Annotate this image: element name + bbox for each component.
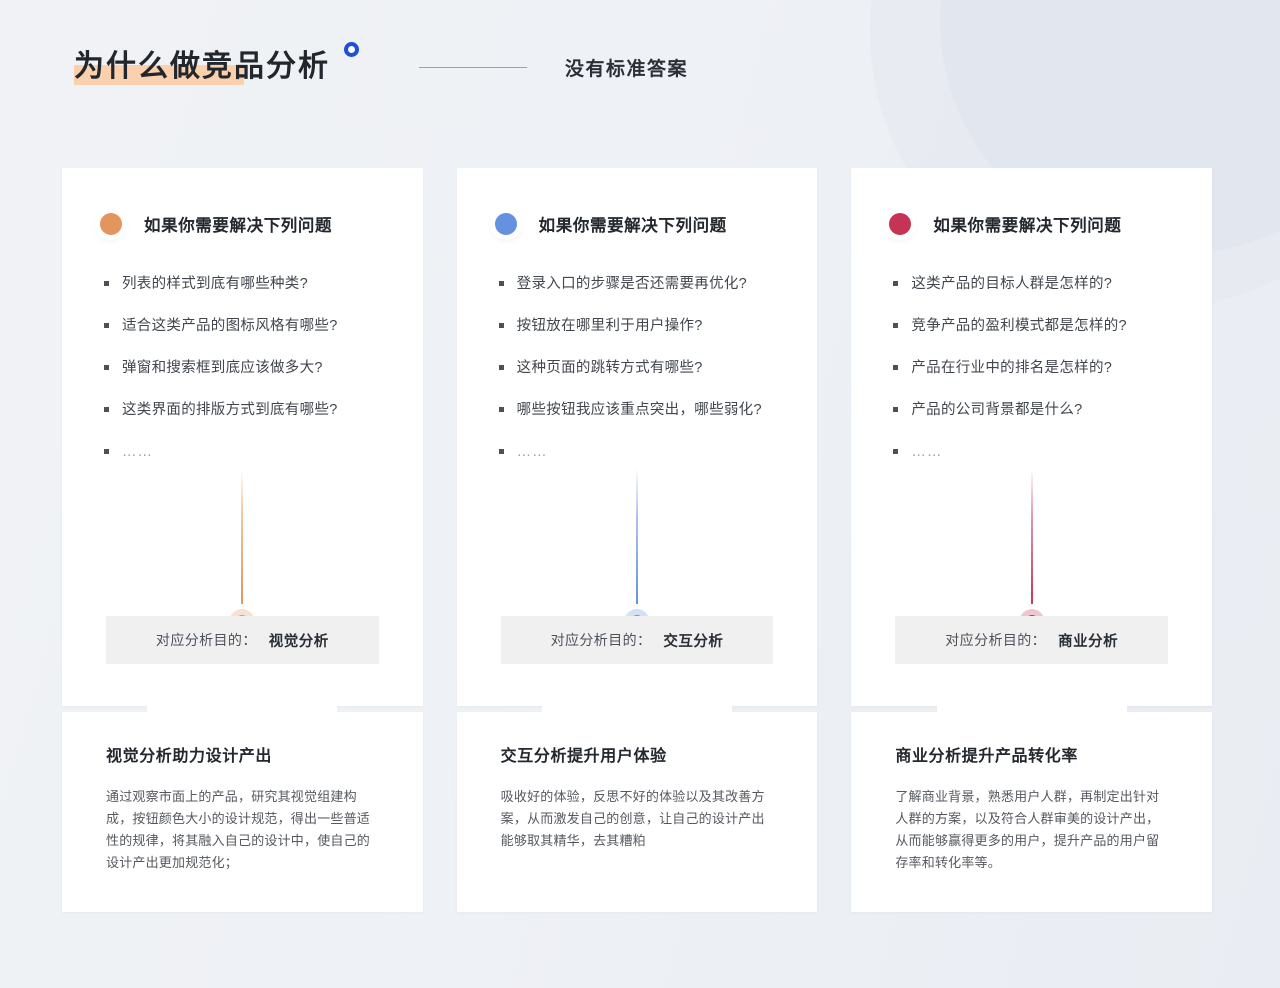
- analysis-column: 如果你需要解决下列问题 登录入口的步骤是否还需要再优化?按钮放在哪里利于用户操作…: [457, 168, 818, 912]
- question-item: ……: [911, 442, 1178, 462]
- connector-graphic: [617, 468, 657, 628]
- goal-value: 交互分析: [663, 630, 723, 651]
- page-subtitle: 没有标准答案: [565, 54, 688, 81]
- questions-card: 如果你需要解决下列问题 这类产品的目标人群是怎样的?竞争产品的盈利模式都是怎样的…: [851, 168, 1212, 706]
- summary-card: 商业分析提升产品转化率 了解商业背景，熟悉用户人群，再制定出针对人群的方案，以及…: [851, 712, 1212, 912]
- question-item: 这类界面的排版方式到底有哪些?: [122, 400, 389, 420]
- goal-label: 对应分析目的：: [156, 630, 257, 650]
- summary-body: 了解商业背景，熟悉用户人群，再制定出针对人群的方案，以及符合人群审美的设计产出，…: [895, 786, 1172, 874]
- summary-body: 吸收好的体验，反思不好的体验以及其改善方案，从而激发自己的创意，让自己的设计产出…: [501, 786, 778, 852]
- connector-graphic: [1012, 468, 1052, 628]
- question-item: 产品在行业中的排名是怎样的?: [911, 358, 1178, 378]
- goal-value: 视觉分析: [269, 630, 329, 651]
- slide-header: 为什么做竞品分析 没有标准答案: [74, 38, 688, 96]
- question-list: 登录入口的步骤是否还需要再优化?按钮放在哪里利于用户操作?这种页面的跳转方式有哪…: [491, 274, 784, 462]
- question-list: 列表的样式到底有哪些种类?适合这类产品的图标风格有哪些?弹窗和搜索框到底应该做多…: [96, 274, 389, 462]
- goal-value: 商业分析: [1058, 630, 1118, 651]
- connector-graphic: [222, 468, 262, 628]
- connector-line: [1031, 468, 1033, 604]
- goal-label: 对应分析目的：: [945, 630, 1046, 650]
- card-header-title: 如果你需要解决下列问题: [539, 212, 727, 236]
- card-header-title: 如果你需要解决下列问题: [933, 212, 1121, 236]
- goal-label: 对应分析目的：: [551, 630, 652, 650]
- question-item: 这种页面的跳转方式有哪些?: [517, 358, 784, 378]
- goal-bar: 对应分析目的： 视觉分析: [106, 616, 379, 664]
- goal-bar: 对应分析目的： 商业分析: [895, 616, 1168, 664]
- questions-card: 如果你需要解决下列问题 登录入口的步骤是否还需要再优化?按钮放在哪里利于用户操作…: [457, 168, 818, 706]
- question-list: 这类产品的目标人群是怎样的?竞争产品的盈利模式都是怎样的?产品在行业中的排名是怎…: [885, 274, 1178, 462]
- question-item: 哪些按钮我应该重点突出，哪些弱化?: [517, 400, 784, 420]
- analysis-column: 如果你需要解决下列问题 列表的样式到底有哪些种类?适合这类产品的图标风格有哪些?…: [62, 168, 423, 912]
- question-item: 这类产品的目标人群是怎样的?: [911, 274, 1178, 294]
- question-item: 弹窗和搜索框到底应该做多大?: [122, 358, 389, 378]
- header-divider: [419, 67, 527, 68]
- summary-title: 交互分析提升用户体验: [501, 742, 778, 766]
- blue-ring-icon: [344, 42, 359, 57]
- card-header: 如果你需要解决下列问题: [96, 212, 389, 236]
- question-item: 适合这类产品的图标风格有哪些?: [122, 316, 389, 336]
- question-item: 列表的样式到底有哪些种类?: [122, 274, 389, 294]
- connector-line: [636, 468, 638, 604]
- blue-dot-icon: [495, 213, 517, 235]
- question-item: ……: [122, 442, 389, 462]
- card-connector-tab: [62, 706, 423, 712]
- card-connector-tab: [851, 706, 1212, 712]
- questions-card: 如果你需要解决下列问题 列表的样式到底有哪些种类?适合这类产品的图标风格有哪些?…: [62, 168, 423, 706]
- question-item: 产品的公司背景都是什么?: [911, 400, 1178, 420]
- red-dot-icon: [889, 213, 911, 235]
- summary-card: 视觉分析助力设计产出 通过观察市面上的产品，研究其视觉组建构成，按钮颜色大小的设…: [62, 712, 423, 912]
- columns-container: 如果你需要解决下列问题 列表的样式到底有哪些种类?适合这类产品的图标风格有哪些?…: [62, 168, 1212, 912]
- summary-title: 商业分析提升产品转化率: [895, 742, 1172, 766]
- orange-dot-icon: [100, 213, 122, 235]
- card-header-title: 如果你需要解决下列问题: [144, 212, 332, 236]
- page-title-wrapper: 为什么做竞品分析: [74, 47, 330, 87]
- analysis-column: 如果你需要解决下列问题 这类产品的目标人群是怎样的?竞争产品的盈利模式都是怎样的…: [851, 168, 1212, 912]
- question-item: 登录入口的步骤是否还需要再优化?: [517, 274, 784, 294]
- goal-bar: 对应分析目的： 交互分析: [501, 616, 774, 664]
- card-header: 如果你需要解决下列问题: [885, 212, 1178, 236]
- question-item: ……: [517, 442, 784, 462]
- summary-title: 视觉分析助力设计产出: [106, 742, 383, 766]
- connector-line: [241, 468, 243, 604]
- question-item: 按钮放在哪里利于用户操作?: [517, 316, 784, 336]
- page-title: 为什么做竞品分析: [74, 47, 330, 87]
- card-connector-tab: [457, 706, 818, 712]
- summary-body: 通过观察市面上的产品，研究其视觉组建构成，按钮颜色大小的设计规范，得出一些普适性…: [106, 786, 383, 874]
- card-header: 如果你需要解决下列问题: [491, 212, 784, 236]
- summary-card: 交互分析提升用户体验 吸收好的体验，反思不好的体验以及其改善方案，从而激发自己的…: [457, 712, 818, 912]
- question-item: 竞争产品的盈利模式都是怎样的?: [911, 316, 1178, 336]
- slide-canvas: 为什么做竞品分析 没有标准答案 如果你需要解决下列问题 列表的样式到底有哪些种类…: [0, 0, 1280, 988]
